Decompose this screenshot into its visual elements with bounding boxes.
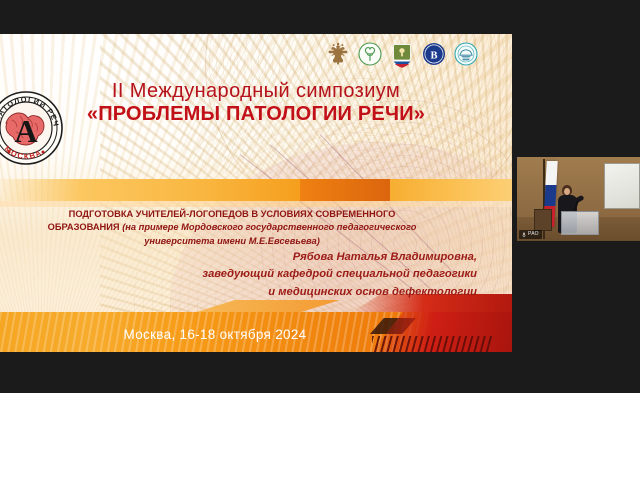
participant-name-badge: РАО <box>519 230 542 239</box>
topic-line-2: ОБРАЗОВАНИЯ (на примере Мордовского госу… <box>22 221 442 234</box>
speaker-block: Рябова Наталья Владимировна, заведующий … <box>77 249 477 301</box>
svg-text:В: В <box>430 50 437 61</box>
speaker-position-line-2: и медицинских основ дефектологии <box>77 284 477 301</box>
slide-thin-stripe <box>0 201 512 207</box>
speaker-face <box>564 188 570 195</box>
svg-text:А: А <box>14 113 37 149</box>
topic-line-3: университета имени М.Е.Евсевьева) <box>22 235 442 248</box>
participant-video-tile[interactable]: РАО <box>517 157 640 241</box>
symposium-title-line-1: II Международный симпозиум <box>0 80 512 102</box>
partner-logos-row: В <box>326 42 478 68</box>
topic-line-1: ПОДГОТОВКА УЧИТЕЛЕЙ-ЛОГОПЕДОВ В УСЛОВИЯХ… <box>22 208 442 221</box>
wooden-lectern <box>534 209 552 231</box>
slide-orange-band <box>0 179 512 201</box>
presentation-topic: ПОДГОТОВКА УЧИТЕЛЕЙ-ЛОГОПЕДОВ В УСЛОВИЯХ… <box>22 208 442 248</box>
symposium-title-line-2: «ПРОБЛЕМЫ ПАТОЛОГИИ РЕЧИ» <box>0 103 512 125</box>
slide-title-block: II Международный симпозиум «ПРОБЛЕМЫ ПАТ… <box>0 80 512 126</box>
screen-root: В <box>0 0 640 480</box>
event-date-location: Москва, 16-18 октября 2024 <box>0 327 430 342</box>
slide-orange-band-accent <box>300 179 390 201</box>
topic-line-2-italic: (на примере Мордовского государственного… <box>122 222 416 232</box>
hse-university-logo: В <box>422 42 446 68</box>
projection-screen <box>604 163 640 209</box>
video-conference-stage: В <box>0 0 640 393</box>
patologii-rechi-emblem: А ПАТОЛОГИИ РЕЧИ МОСКВА <box>0 90 64 166</box>
topic-line-2-bold: ОБРАЗОВАНИЯ <box>48 222 123 232</box>
glass-podium <box>561 211 599 235</box>
speaker-position-line-1: заведующий кафедрой специальной педагоги… <box>77 266 477 283</box>
shared-presentation-slide[interactable]: В <box>0 34 512 352</box>
shield-emblem-logo <box>390 42 414 68</box>
microphone-icon <box>522 232 526 238</box>
participant-name-label: РАО <box>528 230 539 239</box>
speaker-name: Рябова Наталья Владимировна, <box>77 249 477 266</box>
teal-institute-logo <box>454 42 478 68</box>
russian-federation-eagle-logo <box>326 42 350 68</box>
green-tree-circle-logo <box>358 42 382 68</box>
